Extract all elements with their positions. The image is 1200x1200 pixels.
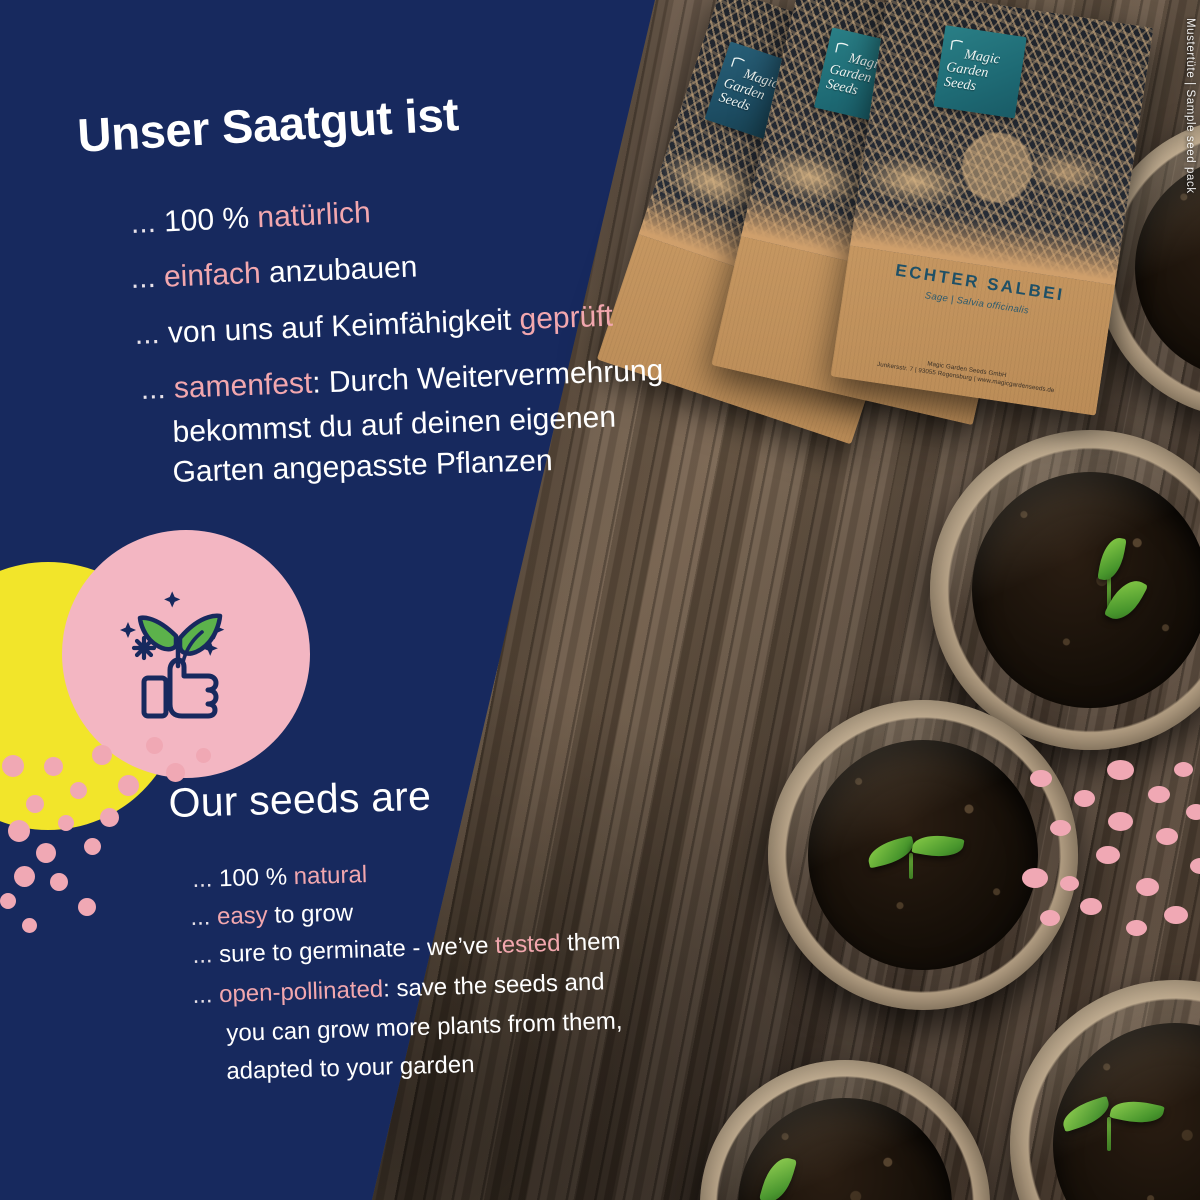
text: 100 % <box>219 863 294 892</box>
decor-dot <box>1096 846 1120 864</box>
brand-badge: Magic Garden Seeds <box>934 25 1027 118</box>
accent-text: open-pollinated <box>219 976 384 1008</box>
list-item-de-1: ... 100 % natürlich <box>130 196 371 241</box>
bullet-dots: ... <box>192 941 220 969</box>
bullet-dots: ... <box>130 205 165 239</box>
decor-dot <box>1156 828 1178 845</box>
page-title-en: Our seeds are <box>168 773 432 827</box>
decor-dot <box>14 866 35 887</box>
decor-dot <box>0 893 16 909</box>
decor-dot <box>78 898 96 916</box>
decor-dot <box>84 838 101 855</box>
list-item-de-2: ... einfach anzubauen <box>130 250 418 295</box>
accent-text: easy <box>217 902 268 930</box>
bullet-dots: ... <box>134 317 169 351</box>
list-item-de-4-cont-2: Garten angepasste Pflanzen <box>172 444 553 490</box>
decor-dot <box>1136 878 1159 896</box>
bullet-dots: ... <box>130 261 165 295</box>
decor-dot <box>2 755 24 777</box>
text: Garten angepasste Pflanzen <box>172 444 553 489</box>
decor-dot <box>1108 812 1133 831</box>
decor-dot <box>44 757 63 776</box>
decor-dot <box>36 843 56 863</box>
text: von uns auf Keimfähigkeit <box>167 303 520 349</box>
decor-dot <box>1148 786 1170 803</box>
decor-dot <box>1107 760 1134 780</box>
text: them <box>560 928 621 957</box>
decor-dot <box>146 737 163 754</box>
page-title-de: Unser Saatgut ist <box>76 86 460 163</box>
thumb-fist <box>144 678 166 716</box>
decor-dot <box>1050 820 1071 836</box>
decor-dot <box>70 782 87 799</box>
list-item-en-2: ... easy to grow <box>190 899 353 932</box>
decor-dot <box>1074 790 1095 807</box>
thumbs-up-sprout-icon <box>104 574 264 734</box>
decor-dot <box>118 775 139 796</box>
decor-dot <box>100 808 119 827</box>
bullet-dots: ... <box>192 865 219 893</box>
text: to grow <box>267 899 353 928</box>
decor-dot <box>8 820 30 842</box>
text: bekommst du auf deinen eigenen <box>172 401 617 449</box>
decor-dot <box>1126 920 1147 936</box>
pot-soil <box>972 472 1200 709</box>
accent-text: einfach <box>163 257 261 294</box>
decor-dot <box>1174 762 1193 777</box>
list-item-en-1: ... 100 % natural <box>192 861 367 894</box>
text: 100 % <box>163 201 258 238</box>
decor-dot <box>1186 804 1200 820</box>
text: anzubauen <box>260 250 418 289</box>
bullet-dots: ... <box>190 903 217 931</box>
thumb-hand <box>170 660 216 716</box>
photo-caption: Mustertüte | Sample seed pack <box>1184 18 1196 194</box>
seedling-stem <box>1107 1117 1111 1151</box>
accent-text: samenfest <box>173 367 313 405</box>
decor-dot <box>1022 868 1048 888</box>
decor-dot <box>196 748 211 763</box>
accent-text: geprüft <box>519 300 614 337</box>
accent-text: tested <box>495 930 561 959</box>
decor-dot <box>58 815 74 831</box>
bullet-dots: ... <box>192 981 220 1009</box>
decor-dot <box>1080 898 1102 915</box>
pot-soil <box>808 740 1037 969</box>
decor-dot <box>1040 910 1060 926</box>
decor-dot <box>1030 770 1052 787</box>
list-item-de-3: ... von uns auf Keimfähigkeit geprüft <box>134 300 614 352</box>
seedling-pot <box>768 700 1078 1010</box>
decor-dot <box>50 873 68 891</box>
decor-dot <box>1060 876 1079 891</box>
decor-dot <box>26 795 44 813</box>
seedling-stem <box>909 853 913 879</box>
bullet-dots: ... <box>140 372 175 406</box>
text: adapted to your garden <box>226 1051 475 1085</box>
accent-text: natürlich <box>257 196 372 234</box>
list-item-de-4-cont-1: bekommst du auf deinen eigenen <box>172 401 617 450</box>
decor-dot <box>92 745 112 765</box>
promo-graphic: Mustertüte | Sample seed pack Magic Gard… <box>0 0 1200 1200</box>
accent-text: natural <box>293 861 367 890</box>
seed-sprout-mark-icon <box>948 36 966 54</box>
decor-dot <box>22 918 37 933</box>
decor-dot <box>1164 906 1188 924</box>
